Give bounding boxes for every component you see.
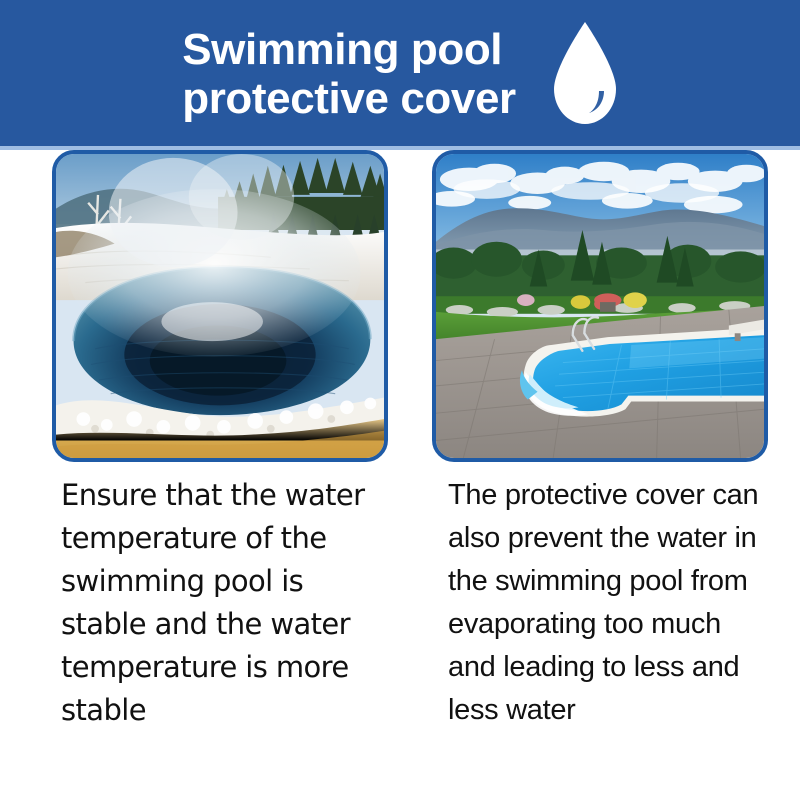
header-banner: Swimming pool protective cover [0, 0, 800, 146]
header-content: Swimming pool protective cover [0, 0, 800, 146]
hot-spring-photo-frame [52, 150, 388, 462]
caption-left: Ensure that the water temperature of the… [61, 474, 383, 732]
water-droplet-icon [552, 21, 618, 125]
product-infographic-page: Swimming pool protective cover [0, 0, 800, 800]
caption-right: The protective cover can also prevent th… [448, 474, 764, 732]
panel-right: The protective cover can also prevent th… [432, 150, 772, 732]
panel-left: Ensure that the water temperature of the… [52, 150, 392, 732]
page-title: Swimming pool protective cover [182, 23, 516, 123]
content-columns: Ensure that the water temperature of the… [0, 150, 800, 800]
swimming-pool-cover-photo [436, 154, 764, 458]
hot-spring-steam-photo [56, 154, 384, 458]
pool-photo-frame [432, 150, 768, 462]
